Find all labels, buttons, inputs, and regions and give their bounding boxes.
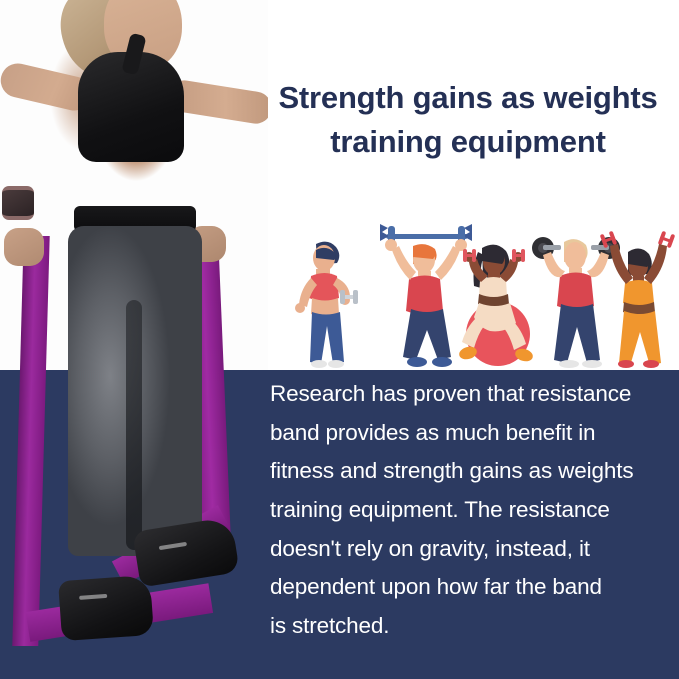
fitness-figures-strip bbox=[268, 212, 679, 372]
body-line-2: band provides as much benefit in bbox=[270, 414, 674, 453]
body-line-4: training equipment. The resistance bbox=[270, 491, 674, 530]
figure-woman-arms-raised bbox=[598, 222, 678, 368]
model-left-shoe bbox=[58, 575, 154, 641]
body-line-1: Research has proven that resistance bbox=[270, 375, 674, 414]
model-leg-shadow bbox=[126, 300, 142, 550]
product-photo bbox=[0, 0, 268, 679]
body-copy: Research has proven that resistance band… bbox=[270, 375, 674, 646]
headline-line-1: Strength gains as weights bbox=[266, 76, 670, 120]
shoe-lace bbox=[79, 594, 107, 600]
figure-woman-single-dumbbell bbox=[286, 238, 364, 368]
headline: Strength gains as weights training equip… bbox=[266, 76, 670, 164]
shoe-lace bbox=[159, 542, 187, 550]
body-line-3: fitness and strength gains as weights bbox=[270, 452, 674, 491]
headline-line-2: training equipment bbox=[266, 120, 670, 164]
body-line-6: dependent upon how far the band bbox=[270, 568, 674, 607]
model-left-hand-grip bbox=[4, 228, 44, 266]
model-wrist-watch bbox=[2, 186, 34, 220]
product-infographic: Strength gains as weights training equip… bbox=[0, 0, 679, 679]
body-line-7: is stretched. bbox=[270, 607, 674, 646]
body-line-5: doesn't rely on gravity, instead, it bbox=[270, 530, 674, 569]
